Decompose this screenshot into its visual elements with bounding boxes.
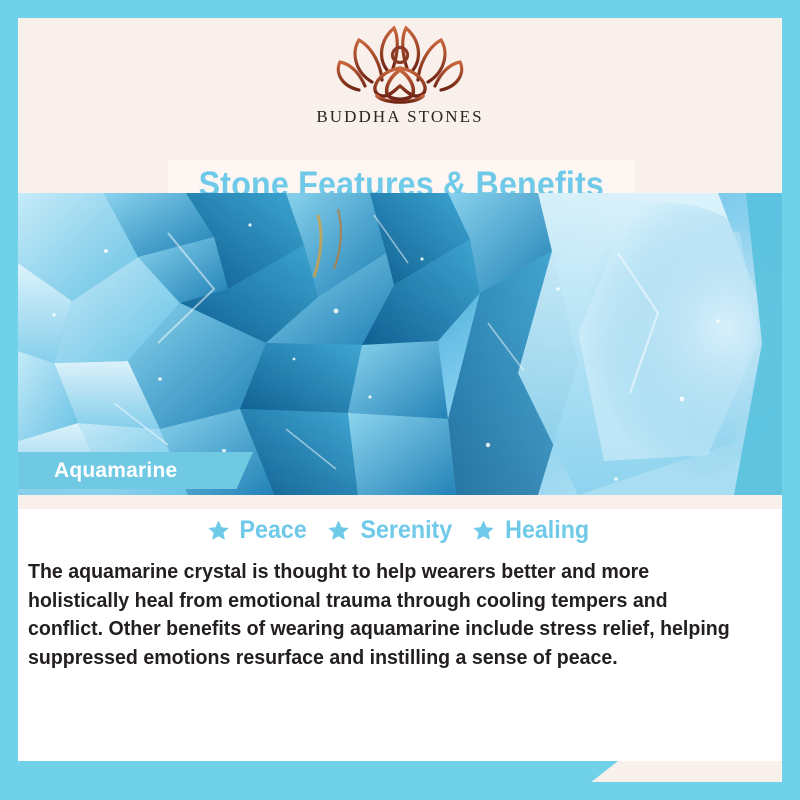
feature-label: Serenity: [360, 516, 452, 545]
lotus-meditation-figure-icon: [325, 24, 475, 106]
features-row: Peace Serenity Healing: [18, 516, 782, 545]
feature-label: Healing: [505, 516, 589, 545]
stone-description: The aquamarine crystal is thought to hel…: [28, 558, 742, 672]
feature-item-serenity: Serenity: [327, 516, 456, 545]
header-section: BUDDHA STONES Stone Features & Benefits: [18, 18, 782, 193]
aquamarine-crystal-illustration: [18, 193, 782, 495]
brand-logo: BUDDHA STONES: [18, 18, 782, 140]
right-border-rail: [782, 0, 800, 800]
stone-photo: [18, 193, 782, 495]
content-card: Peace Serenity Healing The aquamarine cr…: [18, 509, 782, 761]
left-border-rail: [0, 0, 18, 800]
infographic-page: BUDDHA STONES Stone Features & Benefits: [0, 0, 800, 800]
feature-item-peace: Peace: [207, 516, 309, 545]
top-border-rail: [0, 0, 800, 18]
star-icon: [327, 519, 350, 542]
brand-name: BUDDHA STONES: [316, 107, 483, 127]
bottom-accent-band: [0, 761, 618, 800]
feature-label: Peace: [240, 516, 307, 545]
stone-name-label: Aquamarine: [54, 459, 177, 483]
star-icon: [472, 519, 495, 542]
feature-item-healing: Healing: [472, 516, 592, 545]
stone-name-banner: Aquamarine: [18, 452, 253, 489]
star-icon: [207, 519, 230, 542]
